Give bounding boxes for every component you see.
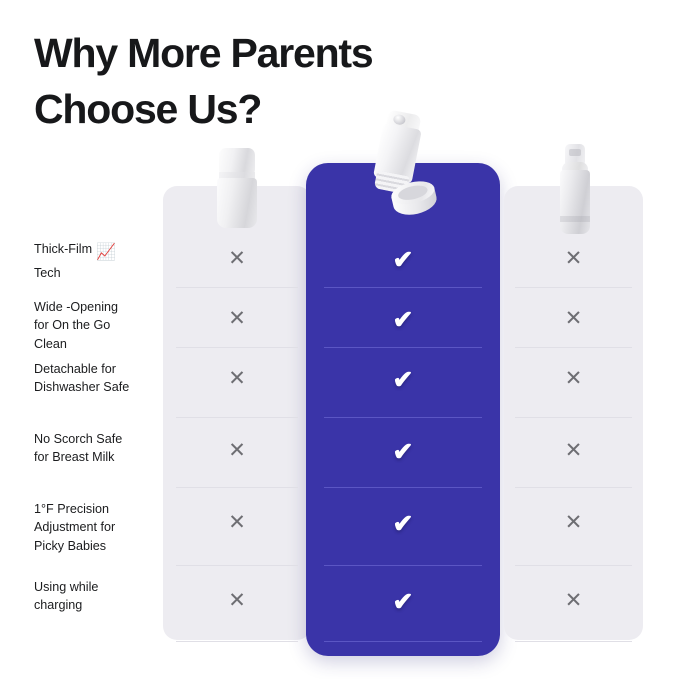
tumbler-body [217,178,257,228]
row-divider [176,347,298,348]
chart-increasing-icon: 📈 [96,241,116,264]
mark-our-product: ✔ [306,248,500,273]
feature-label: Thick-Film📈Tech [34,240,159,283]
feature-label: No Scorch Safefor Breast Milk [34,430,159,467]
mark-our-product: ✔ [306,440,500,465]
row-divider [324,417,482,418]
row-divider [324,347,482,348]
page-title: Why More Parents Choose Us? [34,26,554,138]
flask-cap [565,144,585,164]
row-divider [324,487,482,488]
mark-competitor-left: ✕ [163,440,311,461]
feature-label-line: Using while [34,578,159,596]
row-divider [515,641,632,642]
product-image-competitor-left [216,148,258,228]
feature-label-line: for On the Go [34,316,159,334]
mark-competitor-right: ✕ [504,440,643,461]
row-divider [515,565,632,566]
mark-competitor-left: ✕ [163,590,311,611]
mark-competitor-right: ✕ [504,308,643,329]
feature-label-line: charging [34,596,159,614]
mark-competitor-left: ✕ [163,248,311,269]
feature-label-line: No Scorch Safe [34,430,159,448]
feature-label-line: Wide -Opening [34,298,159,316]
mark-competitor-right: ✕ [504,512,643,533]
row-divider [176,641,298,642]
mark-our-product: ✔ [306,512,500,537]
row-divider [176,287,298,288]
mark-our-product: ✔ [306,308,500,333]
feature-label-line: for Breast Milk [34,448,159,466]
row-divider [176,487,298,488]
mark-our-product: ✔ [306,590,500,615]
feature-label-line: Adjustment for [34,518,159,536]
mark-competitor-right: ✕ [504,368,643,389]
feature-label-line: Tech [34,264,159,282]
row-divider [324,641,482,642]
product-image-competitor-right [558,144,592,234]
row-divider [515,347,632,348]
feature-label-line: Detachable for [34,360,159,378]
flask-band [560,216,590,222]
mark-competitor-left: ✕ [163,368,311,389]
feature-label: 1°F PrecisionAdjustment forPicky Babies [34,500,159,555]
row-divider [515,487,632,488]
row-divider [324,565,482,566]
row-divider [515,417,632,418]
row-divider [176,565,298,566]
tumbler-lid [219,148,255,174]
mark-competitor-right: ✕ [504,248,643,269]
mark-competitor-left: ✕ [163,308,311,329]
row-divider [515,287,632,288]
headline-line-1: Why More Parents [34,30,373,76]
feature-label: Using whilecharging [34,578,159,615]
row-divider [324,287,482,288]
mark-competitor-left: ✕ [163,512,311,533]
column-panel-our-product [306,163,500,656]
feature-label-line: Picky Babies [34,537,159,555]
mark-competitor-right: ✕ [504,590,643,611]
feature-label-line: Dishwasher Safe [34,378,159,396]
feature-label-line: Thick-Film📈 [34,240,159,264]
mark-our-product: ✔ [306,368,500,393]
row-divider [176,417,298,418]
feature-label: Wide -Openingfor On the GoClean [34,298,159,353]
feature-label-line: Clean [34,335,159,353]
headline-line-2: Choose Us? [34,82,554,138]
comparison-infographic: Why More Parents Choose Us? Thick-Film📈T… [0,0,679,679]
flask-body [560,170,590,234]
feature-label: Detachable forDishwasher Safe [34,360,159,397]
feature-label-line: 1°F Precision [34,500,159,518]
